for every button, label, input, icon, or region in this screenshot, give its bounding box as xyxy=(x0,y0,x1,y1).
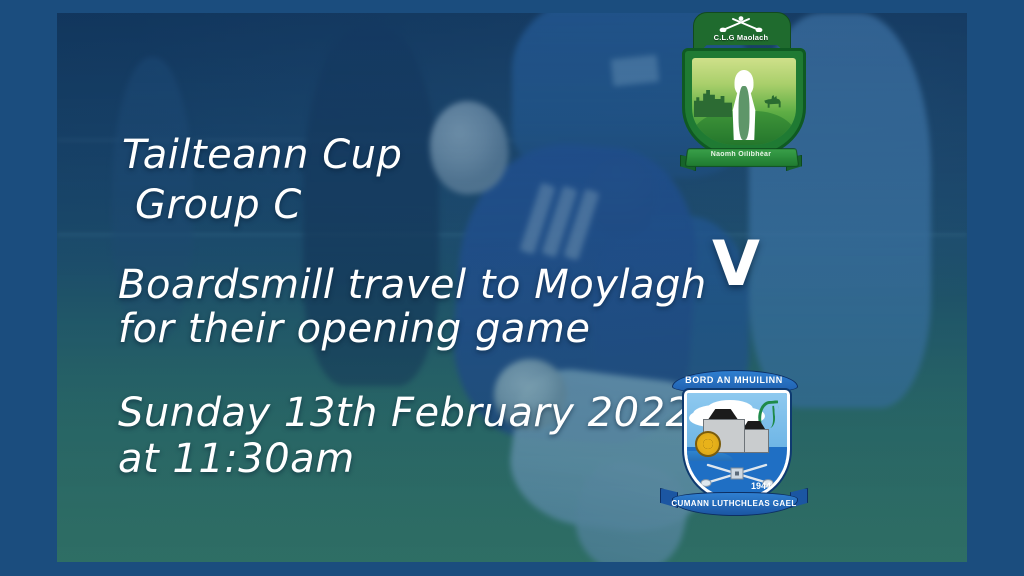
competition-line-1: Tailteann Cup xyxy=(122,132,402,178)
moylagh-club-name: C.L.G Maolach xyxy=(676,33,806,42)
message-line-2: for their opening game xyxy=(118,306,591,352)
crossed-hurleys-icon xyxy=(719,16,763,32)
versus-label: V xyxy=(712,233,760,295)
moylagh-crest: C.L.G Maolach Naomh Oilibhéar xyxy=(676,12,806,180)
saint-shading xyxy=(739,86,750,140)
boardsmill-bottom-banner: CUMANN LUTHCHLEAS GAEL xyxy=(660,480,808,520)
match-announcement-poster: Tailteann Cup Group C Boardsmill travel … xyxy=(0,0,1024,576)
association-name: CUMANN LUTHCHLEAS GAEL xyxy=(660,499,808,508)
message-line-1: Boardsmill travel to Moylagh xyxy=(118,262,707,308)
moylagh-scene xyxy=(692,58,796,145)
moylagh-motto-banner: Naomh Oilibhéar xyxy=(676,142,806,172)
boardsmill-club-name: BORD AN MHUILINN xyxy=(664,375,804,385)
boardsmill-crest: BORD AN MHUILINN xyxy=(660,366,808,526)
saint-figure-icon xyxy=(729,70,759,140)
match-time: at 11:30am xyxy=(118,436,355,482)
moylagh-motto-text: Naomh Oilibhéar xyxy=(676,151,806,158)
outbuilding xyxy=(741,429,769,453)
match-date: Sunday 13th February 2022 xyxy=(118,390,691,436)
castle-ruin-icon xyxy=(694,87,732,117)
competition-line-2: Group C xyxy=(135,182,302,228)
